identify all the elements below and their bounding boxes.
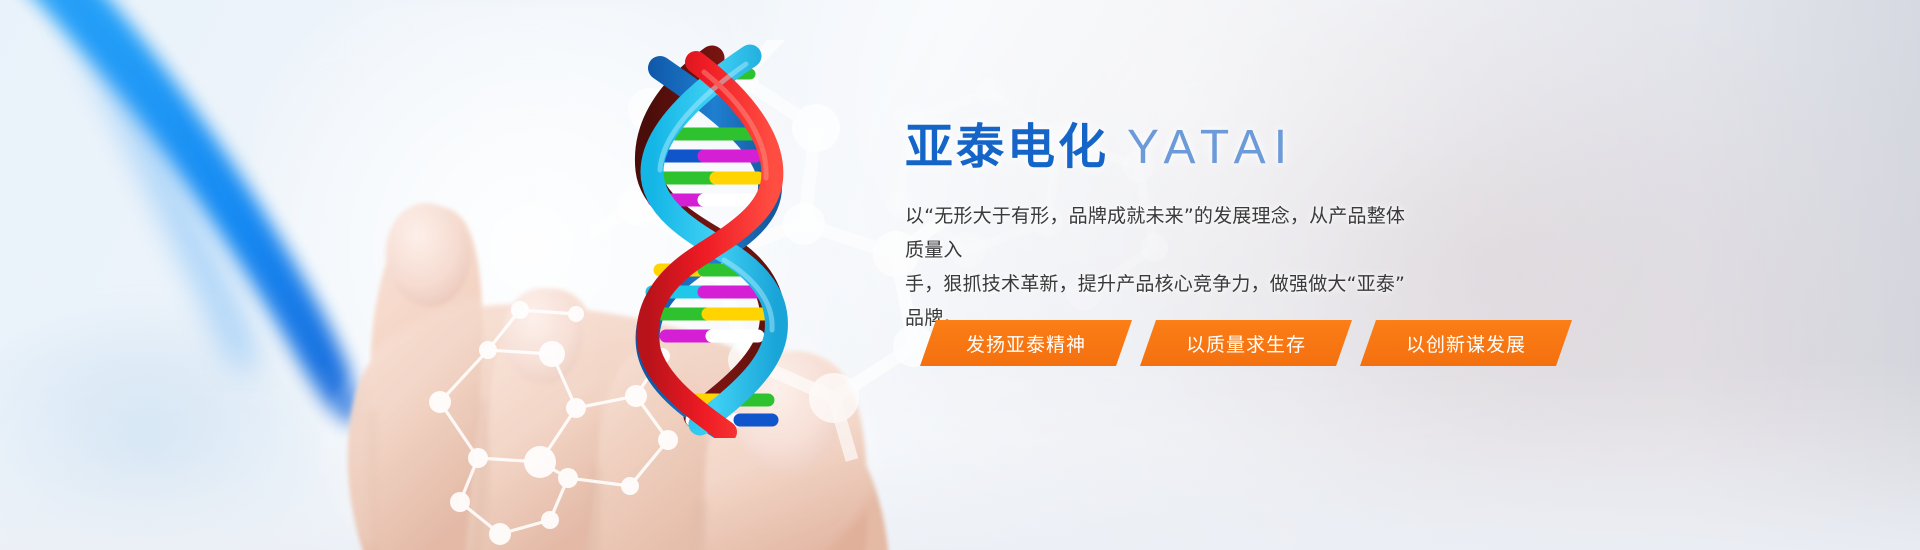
description: 以“无形大于有形，品牌成就未来”的发展理念，从产品整体质量入 手，狠抓技术革新，… bbox=[905, 199, 1421, 335]
description-line-1: 以“无形大于有形，品牌成就未来”的发展理念，从产品整体质量入 bbox=[905, 199, 1421, 267]
title-en: YATAI bbox=[1127, 121, 1295, 174]
blue-swoosh-secondary-icon bbox=[0, 0, 290, 380]
slogan-tag-2[interactable]: 以质量求生存 bbox=[1140, 320, 1352, 366]
banner-content: 亚泰电化YATAI 以“无形大于有形，品牌成就未来”的发展理念，从产品整体质量入… bbox=[905, 118, 1625, 335]
slogan-tag-3[interactable]: 以创新谋发展 bbox=[1360, 320, 1572, 366]
dna-helix-icon bbox=[600, 38, 820, 438]
slogan-tag-list: 发扬亚泰精神 以质量求生存 以创新谋发展 bbox=[920, 320, 1566, 366]
banner: 亚泰电化YATAI 以“无形大于有形，品牌成就未来”的发展理念，从产品整体质量入… bbox=[0, 0, 1920, 550]
title-cn: 亚泰电化 bbox=[905, 119, 1109, 175]
slogan-tag-1-label: 发扬亚泰精神 bbox=[966, 330, 1086, 357]
page-title: 亚泰电化YATAI bbox=[905, 118, 1625, 177]
slogan-tag-2-label: 以质量求生存 bbox=[1186, 330, 1306, 357]
slogan-tag-3-label: 以创新谋发展 bbox=[1406, 330, 1526, 357]
slogan-tag-1[interactable]: 发扬亚泰精神 bbox=[920, 320, 1132, 366]
